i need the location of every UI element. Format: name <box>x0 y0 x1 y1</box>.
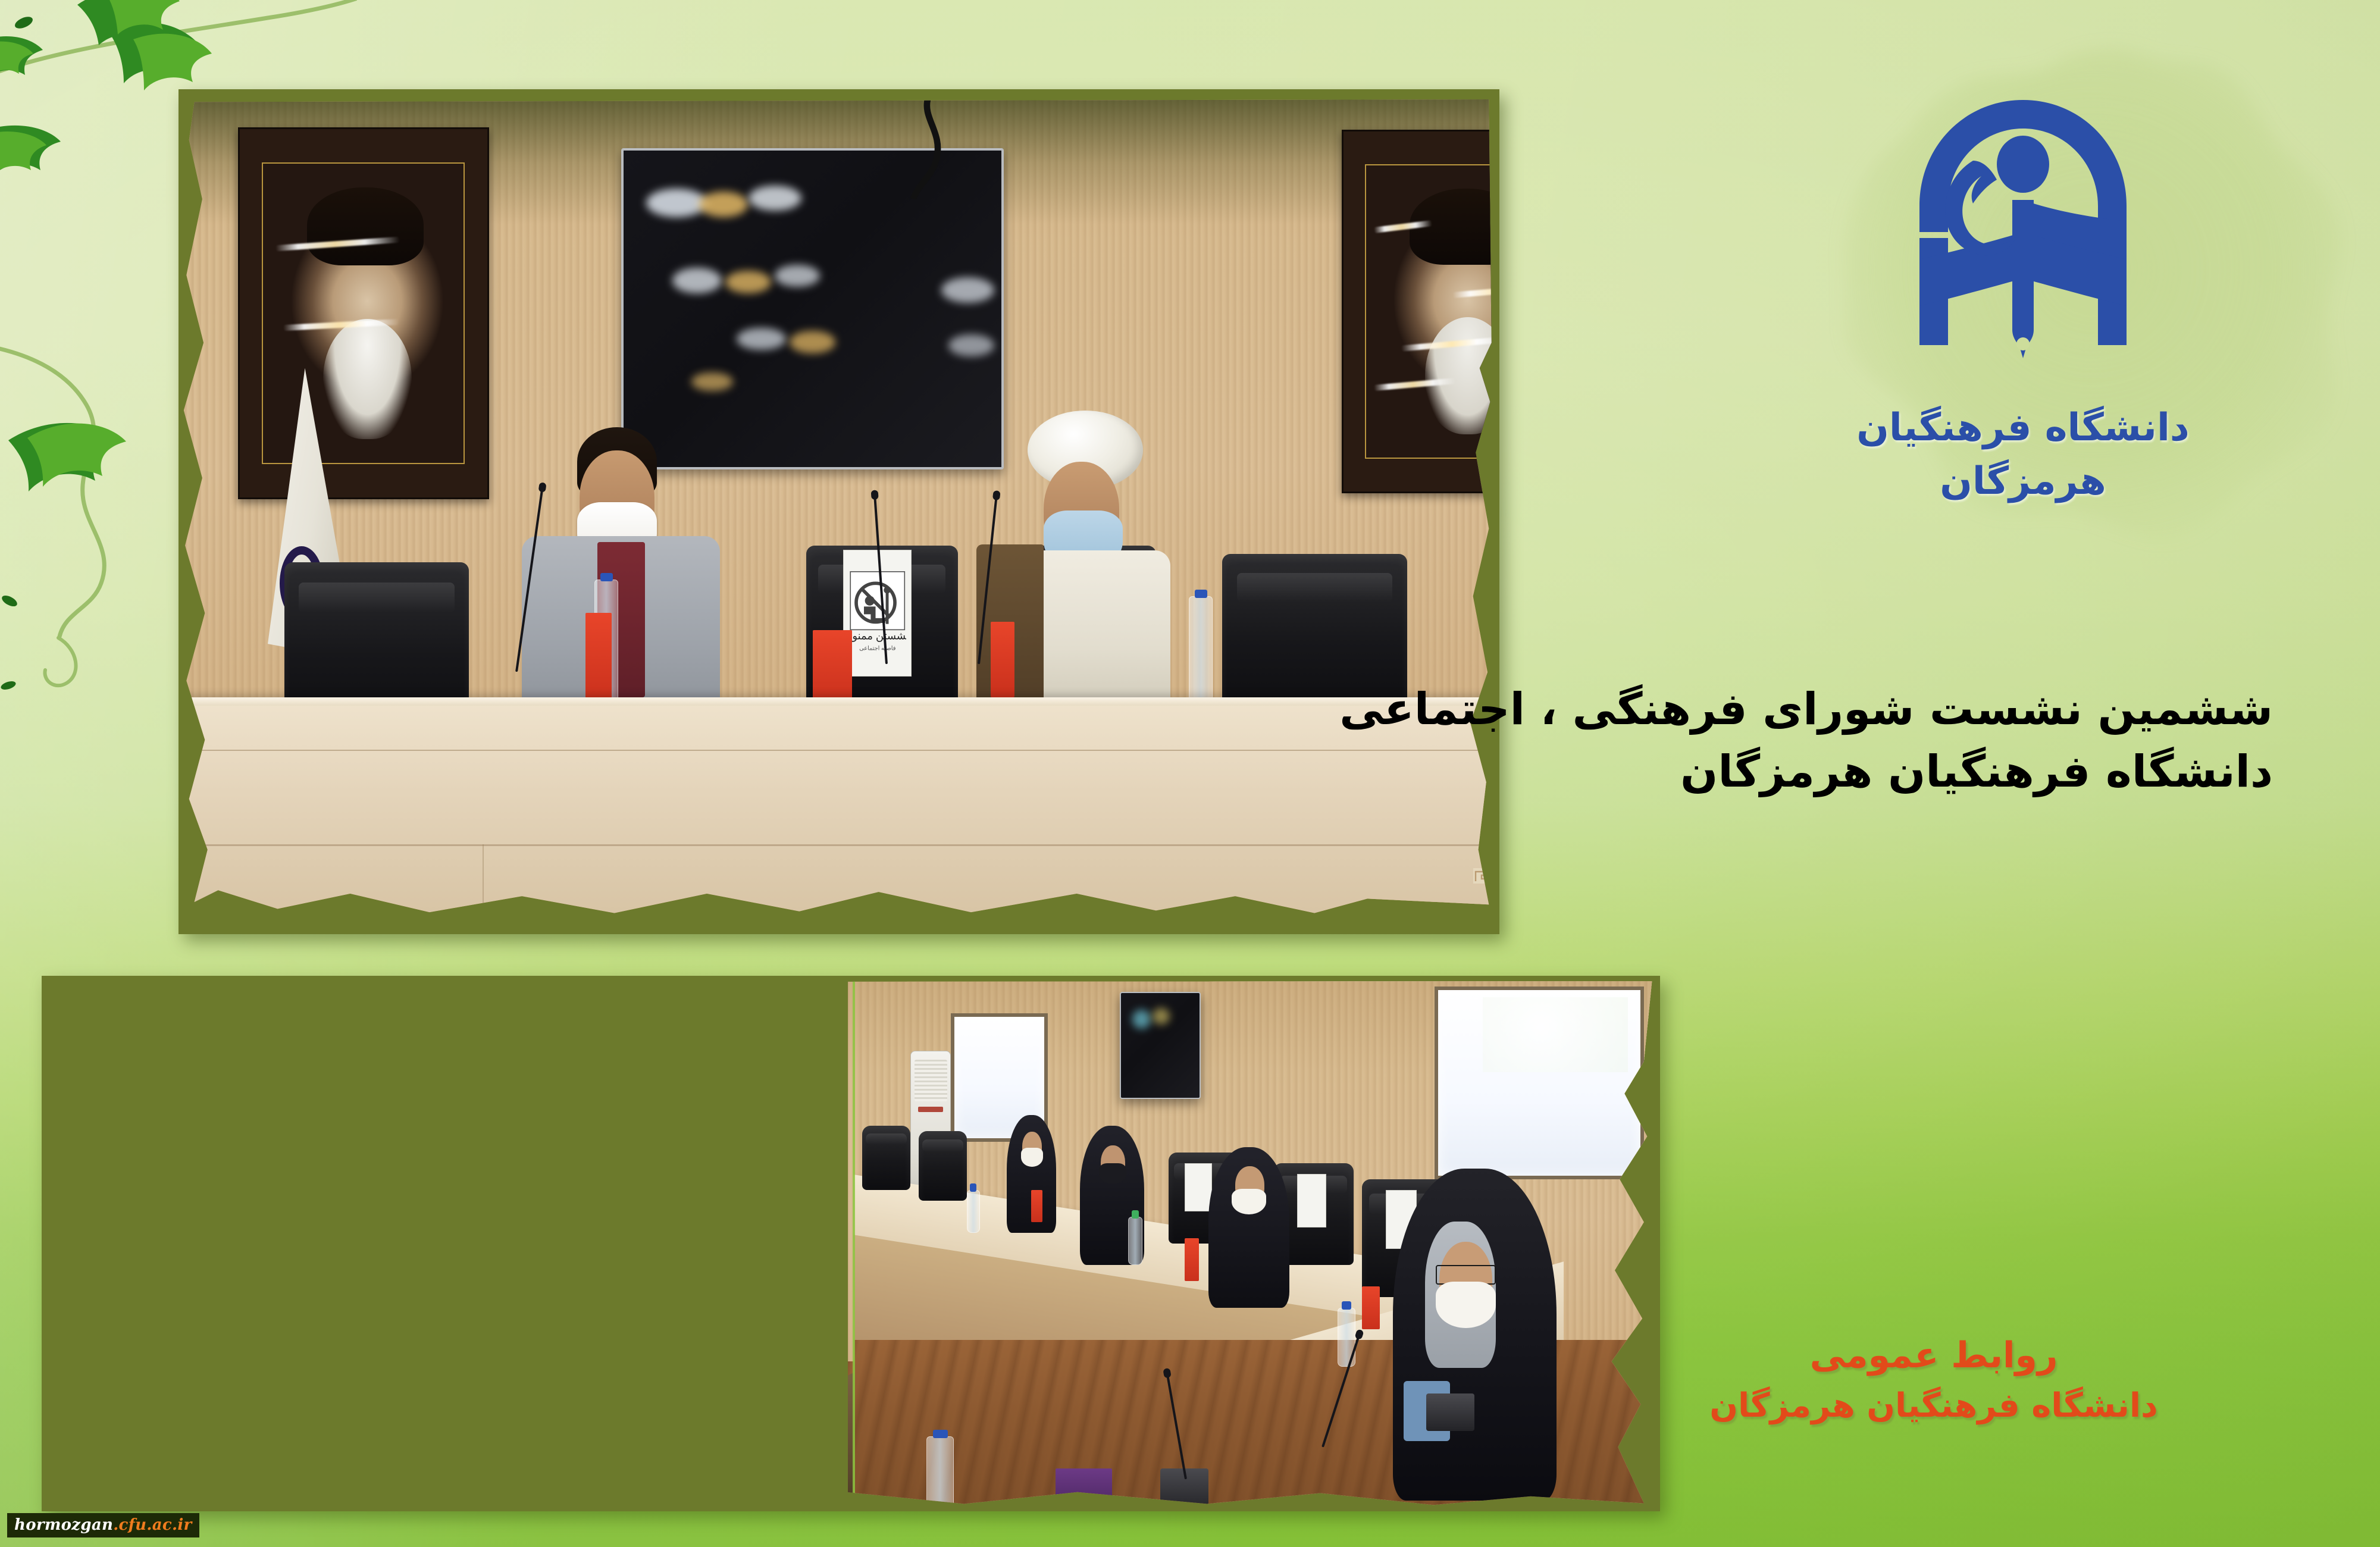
logo-wrap <box>1725 89 2320 387</box>
public-relations-block: روابط عمومی دانشگاه فرهنگیان هرمزگان <box>1577 1330 2291 1430</box>
speaker-in-grey-suit <box>522 427 720 715</box>
conference-room-head-table: نشستن ممنوع فاصله اجتماعی <box>178 89 1499 934</box>
chair-right-empty-1 <box>862 1126 910 1190</box>
svg-text:فاصله اجتماعی: فاصله اجتماعی <box>859 645 896 652</box>
poster-canvas: نشستن ممنوع فاصله اجتماعی <box>0 0 2380 1547</box>
pr-line-2: دانشگاه فرهنگیان هرمزگان <box>1577 1382 2291 1430</box>
red-card-right-b <box>1185 1238 1199 1281</box>
svg-text:نشستن ممنوع: نشستن ممنوع <box>848 630 907 642</box>
photo-strip <box>42 976 1660 1511</box>
brand-name-line1: دانشگاه فرهنگیان <box>1725 402 2320 453</box>
red-card-right-a <box>1031 1190 1042 1222</box>
title-line-2: دانشگاه فرهنگیان هرمزگان <box>1249 741 2273 803</box>
portrait-khomeini-frame <box>238 127 489 499</box>
no-sitting-icon: نشستن ممنوع فاصله اجتماعی <box>848 559 907 667</box>
tv-cable <box>852 98 958 199</box>
wall-mounted-tv-right <box>1120 992 1200 1099</box>
chair-right-empty-2 <box>919 1131 967 1201</box>
window-foliage <box>1483 997 1628 1072</box>
bottle-right-a <box>967 1190 980 1233</box>
no-sitting-sign-r2 <box>1297 1174 1326 1227</box>
photo-strip-content <box>42 976 1660 1511</box>
pr-line-1: روابط عمومی <box>1577 1330 2291 1382</box>
greek-key-trim <box>1473 868 1499 884</box>
title-line-1: ششمین نشست شورای فرهنگی ، اجتماعی <box>1249 678 2273 741</box>
photo-main: نشستن ممنوع فاصله اجتماعی <box>178 89 1499 934</box>
bottle-foreground-right <box>926 1436 954 1511</box>
no-sitting-sign: نشستن ممنوع فاصله اجتماعی <box>843 550 912 677</box>
conference-room-right-side <box>854 976 1660 1511</box>
woman-in-chador-3 <box>1201 1147 1298 1308</box>
red-card-right-c <box>1362 1286 1380 1329</box>
watermark-tld: .cfu.ac.ir <box>113 1516 192 1534</box>
red-table-card-right <box>991 622 1014 698</box>
snack-box <box>1056 1468 1112 1511</box>
bottle-right-b <box>1128 1217 1142 1265</box>
photo-main-content: نشستن ممنوع فاصله اجتماعی <box>178 89 1499 934</box>
red-table-card-left <box>585 613 612 706</box>
watermark-domain: hormozgan <box>14 1516 113 1534</box>
poster-title: ششمین نشست شورای فرهنگی ، اجتماعی دانشگا… <box>1249 678 2273 803</box>
red-table-card-center <box>813 630 853 706</box>
site-watermark: hormozgan.cfu.ac.ir <box>7 1513 199 1537</box>
brand-block: دانشگاه فرهنگیان هرمزگان <box>1725 89 2320 508</box>
woman-with-glasses-foreground <box>1386 1169 1563 1501</box>
water-bottle-right <box>1189 596 1213 706</box>
brand-name-line2: هرمزگان <box>1725 456 2320 507</box>
farhangian-university-logo <box>1886 89 2160 387</box>
portrait-khamenei-frame <box>1342 130 1499 493</box>
photo-seam <box>853 976 855 1511</box>
mic-base-right-photo <box>1426 1393 1474 1431</box>
